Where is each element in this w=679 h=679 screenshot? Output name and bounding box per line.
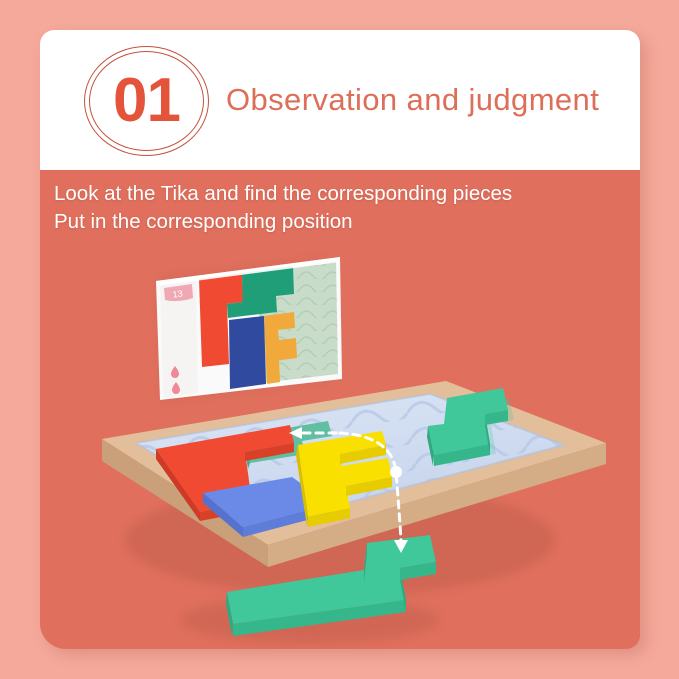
header-card: 01 Observation and judgment (40, 30, 640, 170)
instruction-line-1: Look at the Tika and find the correspond… (54, 180, 634, 208)
step-number-badge: 01 (84, 46, 209, 156)
step-number: 01 (84, 46, 209, 156)
instruction-line-2: Put in the corresponding position (54, 208, 634, 236)
product-photo-scene: 13 (40, 240, 640, 649)
page-title: Observation and judgment (226, 30, 599, 170)
pattern-card: 13 (156, 257, 342, 402)
arrow-node-dot (390, 466, 402, 478)
card-piece-blue (229, 316, 266, 389)
instruction-text: Look at the Tika and find the correspond… (54, 180, 634, 235)
product-instruction-image: 01 Observation and judgment Look at the … (0, 0, 679, 679)
card-number: 13 (172, 288, 183, 299)
